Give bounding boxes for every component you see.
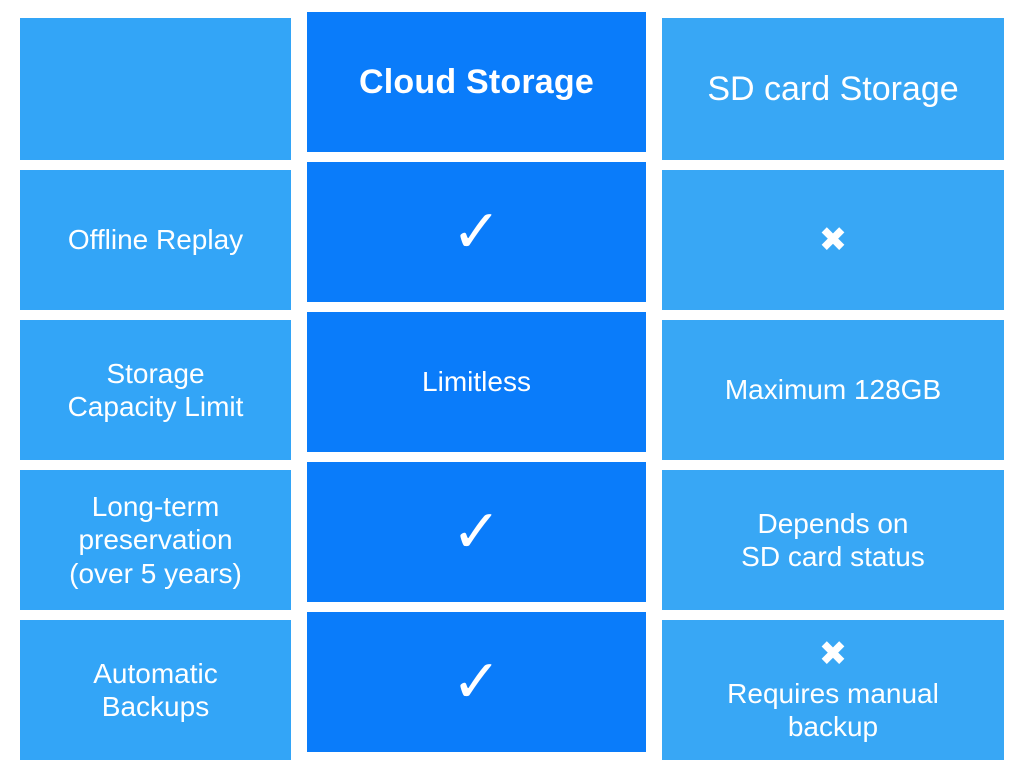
feature-label-group: Offline Replay bbox=[30, 223, 281, 256]
sd-card-storage-header-label: SD card Storage bbox=[672, 69, 994, 109]
sdcard-value-group: Maximum 128GB bbox=[672, 373, 994, 406]
cloud-cell-automatic-backups: ✓ bbox=[307, 612, 646, 752]
feature-label-line: Automatic bbox=[93, 657, 218, 690]
sdcard-cell-long-term-preservation: Depends on SD card status bbox=[662, 470, 1004, 610]
column-sd-card-storage: SD card Storage ✖ Maximum 128GB Depends … bbox=[662, 0, 1004, 760]
column-feature-labels: Offline Replay Storage Capacity Limit Lo… bbox=[20, 0, 291, 760]
cloud-value-group: ✓ bbox=[317, 657, 636, 708]
feature-label-line: Offline Replay bbox=[68, 223, 243, 256]
feature-label-line: (over 5 years) bbox=[69, 557, 242, 590]
cloud-cell-offline-replay: ✓ bbox=[307, 162, 646, 302]
column-cloud-storage: Cloud Storage ✓ Limitless ✓ ✓ bbox=[307, 0, 646, 752]
sdcard-value-line: Requires manual bbox=[727, 677, 939, 710]
sdcard-cell-offline-replay: ✖ bbox=[662, 170, 1004, 310]
feature-label-group: Storage Capacity Limit bbox=[30, 357, 281, 423]
cloud-value-line: Limitless bbox=[422, 365, 531, 398]
sdcard-value-group: ✖ Requires manual backup bbox=[672, 637, 994, 743]
feature-label-group: Long-term preservation (over 5 years) bbox=[30, 490, 281, 589]
cloud-storage-header-label: Cloud Storage bbox=[317, 62, 636, 102]
cross-icon: ✖ bbox=[819, 637, 848, 671]
feature-column-header bbox=[20, 18, 291, 160]
cloud-cell-storage-capacity-limit: Limitless bbox=[307, 312, 646, 452]
sd-card-storage-column-header: SD card Storage bbox=[662, 18, 1004, 160]
sdcard-value-line: Maximum 128GB bbox=[725, 373, 941, 406]
feature-label-line: Storage bbox=[106, 357, 204, 390]
feature-label-group: Automatic Backups bbox=[30, 657, 281, 723]
sdcard-value-line: Depends on bbox=[757, 507, 908, 540]
check-icon: ✓ bbox=[451, 657, 501, 708]
sdcard-cell-storage-capacity-limit: Maximum 128GB bbox=[662, 320, 1004, 460]
feature-cell-automatic-backups: Automatic Backups bbox=[20, 620, 291, 760]
check-icon: ✓ bbox=[451, 507, 501, 558]
feature-label-line: Capacity Limit bbox=[68, 390, 244, 423]
sdcard-value-group: Depends on SD card status bbox=[672, 507, 994, 573]
storage-comparison-table: Offline Replay Storage Capacity Limit Lo… bbox=[0, 0, 1024, 758]
feature-label-line: Long-term bbox=[92, 490, 220, 523]
cloud-value-group: ✓ bbox=[317, 507, 636, 558]
feature-label-line: Backups bbox=[102, 690, 209, 723]
feature-cell-offline-replay: Offline Replay bbox=[20, 170, 291, 310]
cloud-cell-long-term-preservation: ✓ bbox=[307, 462, 646, 602]
feature-cell-storage-capacity-limit: Storage Capacity Limit bbox=[20, 320, 291, 460]
check-icon: ✓ bbox=[451, 207, 501, 258]
cloud-value-group: ✓ bbox=[317, 207, 636, 258]
sdcard-cell-automatic-backups: ✖ Requires manual backup bbox=[662, 620, 1004, 760]
cloud-value-group: Limitless bbox=[317, 365, 636, 398]
feature-cell-long-term-preservation: Long-term preservation (over 5 years) bbox=[20, 470, 291, 610]
sdcard-value-line: SD card status bbox=[741, 540, 925, 573]
cross-icon: ✖ bbox=[819, 223, 848, 257]
sdcard-value-line: backup bbox=[788, 710, 878, 743]
feature-label-line: preservation bbox=[78, 523, 232, 556]
cloud-storage-column-header: Cloud Storage bbox=[307, 12, 646, 152]
sdcard-value-group: ✖ bbox=[672, 223, 994, 257]
